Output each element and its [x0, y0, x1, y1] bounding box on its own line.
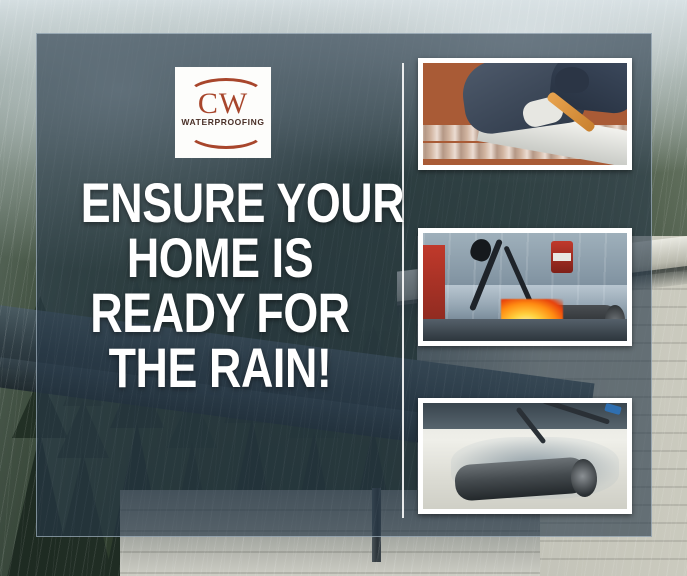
headline-line-4: THE RAIN! [81, 341, 359, 396]
worker-leg [423, 245, 445, 325]
deck-edge-shadow [423, 319, 627, 341]
membrane-roll-photo [418, 398, 632, 514]
headline: ENSURE YOUR HOME IS READY FOR THE RAIN! [81, 176, 359, 396]
logo-monogram: CW [179, 89, 267, 119]
headline-line-2: HOME IS [81, 231, 359, 286]
headline-line-3: READY FOR [81, 286, 359, 341]
worker-head [555, 67, 589, 93]
vertical-divider [402, 63, 404, 518]
waterproofing-advertisement-poster: CW WATERPROOFING ENSURE YOUR HOME IS REA… [0, 0, 687, 576]
gas-cylinder [551, 241, 573, 273]
roof-tile-sealant-photo [418, 58, 632, 170]
cw-waterproofing-logo[interactable]: CW WATERPROOFING [175, 67, 271, 158]
headline-line-1: ENSURE YOUR [81, 176, 359, 231]
torch-on-membrane-photo [418, 228, 632, 346]
arc-bottom-icon [187, 115, 265, 149]
